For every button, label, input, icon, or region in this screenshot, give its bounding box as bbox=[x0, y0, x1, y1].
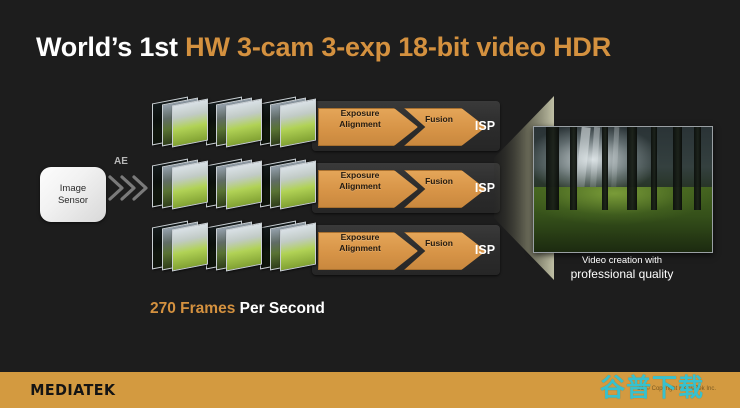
ea-line2: Alignment bbox=[339, 181, 381, 191]
exposure-frame-group bbox=[206, 222, 262, 270]
exposure-alignment-label: ExposureAlignment bbox=[318, 101, 402, 137]
image-sensor-block: Image Sensor bbox=[40, 167, 106, 222]
exposure-frame-bright bbox=[280, 223, 316, 272]
pipeline-row: ExposureAlignmentFusionISP bbox=[312, 163, 500, 213]
exposure-frame-group bbox=[152, 98, 208, 146]
ea-line1: Exposure bbox=[341, 170, 380, 180]
exposure-frame-bright bbox=[172, 223, 208, 272]
output-photo bbox=[533, 126, 713, 253]
page-title: World’s 1st HW 3-cam 3-exp 18-bit video … bbox=[36, 32, 611, 63]
exposure-frame-bright bbox=[172, 99, 208, 148]
watermark-text: 谷普下载 bbox=[600, 368, 704, 404]
title-highlight: HW 3-cam 3-exp 18-bit video HDR bbox=[185, 32, 611, 62]
ea-line1: Exposure bbox=[341, 108, 380, 118]
frame-rate-text: 270 Frames Per Second bbox=[150, 300, 325, 318]
exposure-frame-group bbox=[152, 160, 208, 208]
title-prefix: World’s 1st bbox=[36, 32, 185, 62]
sensor-label-line2: Sensor bbox=[58, 195, 88, 206]
exposure-frame-group bbox=[206, 98, 262, 146]
exposure-frame-bright bbox=[226, 99, 262, 148]
exposure-frame-bright bbox=[226, 223, 262, 272]
ae-label: AE bbox=[114, 156, 128, 167]
exposure-frame-group bbox=[152, 222, 208, 270]
pipeline-row: ExposureAlignmentFusionISP bbox=[312, 225, 500, 275]
pipeline-row: ExposureAlignmentFusionISP bbox=[312, 101, 500, 151]
output-caption: Video creation with professional quality bbox=[533, 255, 711, 281]
sensor-label-line1: Image bbox=[60, 183, 86, 194]
caption-line2: professional quality bbox=[533, 267, 711, 281]
slide-canvas: World’s 1st HW 3-cam 3-exp 18-bit video … bbox=[0, 0, 740, 408]
caption-line1: Video creation with bbox=[533, 255, 711, 266]
fusion-label: Fusion bbox=[408, 163, 470, 199]
exposure-alignment-label: ExposureAlignment bbox=[318, 163, 402, 199]
exposure-frame-bright bbox=[226, 161, 262, 210]
exposure-frame-group bbox=[206, 160, 262, 208]
triple-chevron-right-icon bbox=[107, 172, 151, 204]
ea-line2: Alignment bbox=[339, 119, 381, 129]
exposure-stack-row bbox=[152, 98, 312, 146]
frame-rate-value: 270 Frames bbox=[150, 300, 235, 317]
exposure-alignment-label: ExposureAlignment bbox=[318, 225, 402, 261]
mediatek-logo: MEDIATEK bbox=[30, 381, 115, 399]
ea-line2: Alignment bbox=[339, 243, 381, 253]
exposure-frame-group bbox=[260, 98, 316, 146]
frame-rate-suffix: Per Second bbox=[235, 300, 325, 317]
exposure-frame-bright bbox=[172, 161, 208, 210]
exposure-frame-group bbox=[260, 160, 316, 208]
fusion-label: Fusion bbox=[408, 101, 470, 137]
footer-bar: MEDIATEK 21 © Copyright MediaTek Inc. 谷普… bbox=[0, 372, 740, 408]
ea-line1: Exposure bbox=[341, 232, 380, 242]
exposure-frame-stacks bbox=[152, 98, 312, 270]
processing-pipeline: ExposureAlignmentFusionISPExposureAlignm… bbox=[312, 101, 500, 273]
exposure-frame-bright bbox=[280, 161, 316, 210]
fusion-label: Fusion bbox=[408, 225, 470, 261]
exposure-frame-bright bbox=[280, 99, 316, 148]
exposure-stack-row bbox=[152, 160, 312, 208]
exposure-stack-row bbox=[152, 222, 312, 270]
exposure-frame-group bbox=[260, 222, 316, 270]
